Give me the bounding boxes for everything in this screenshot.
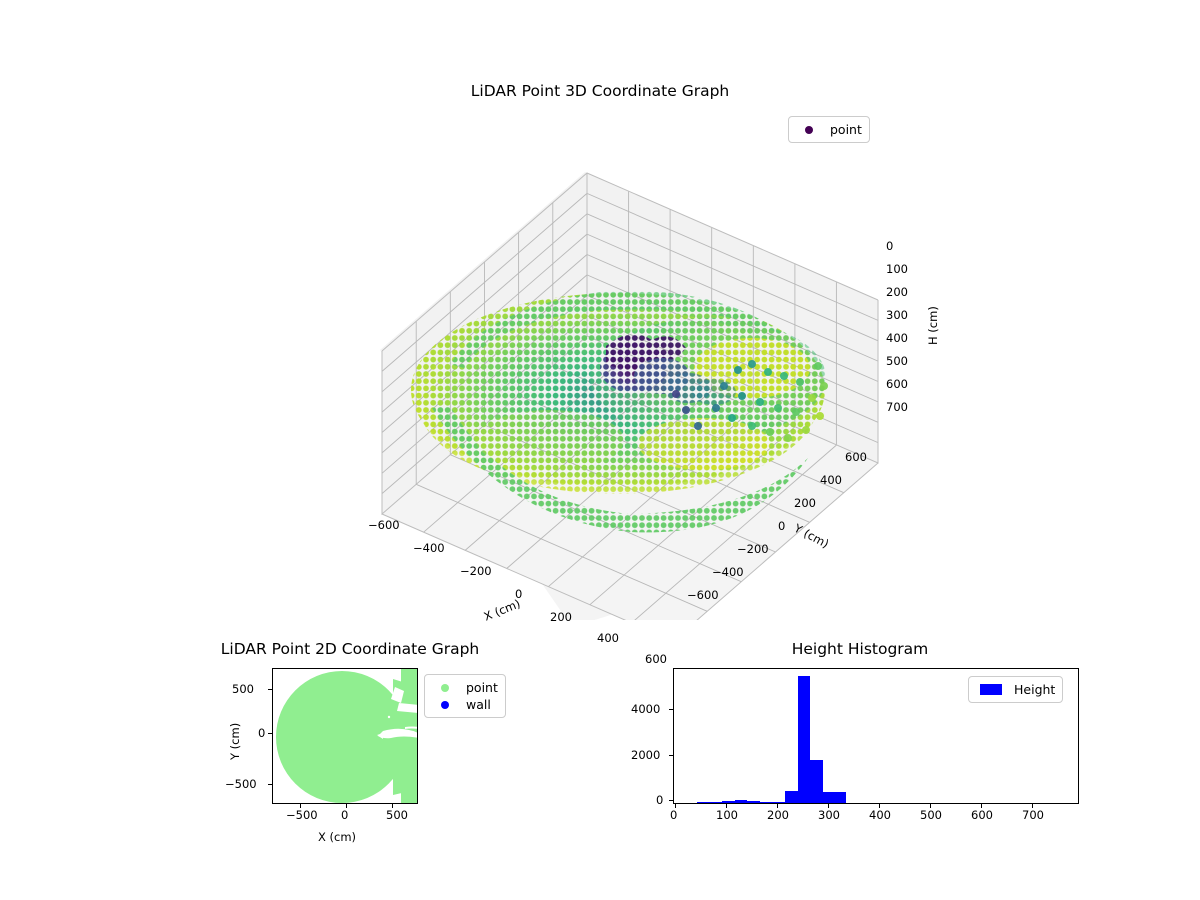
hist-ytickmark-2 — [669, 709, 673, 710]
hist-ytick-0: 0 — [656, 793, 663, 807]
legend-item-point: point — [432, 679, 498, 696]
plot3d-legend: point — [788, 116, 870, 143]
legend-label: Height — [1006, 682, 1055, 697]
plot3d-canvas — [300, 140, 940, 620]
plot2d-ytickmark-2 — [268, 784, 272, 785]
figure-canvas: LiDAR Point 3D Coordinate Graph point — [0, 0, 1200, 900]
histogram-title: Height Histogram — [640, 640, 1080, 658]
histogram-bar — [836, 792, 846, 803]
plot3d-ztick-0: 0 — [886, 239, 893, 253]
plot3d-ytick-0: −600 — [687, 588, 719, 602]
hist-xtick-0: 0 — [670, 808, 677, 822]
plot3d-ytick-4: 200 — [794, 496, 816, 510]
plot3d-ytick-1: −400 — [712, 565, 744, 579]
histogram-bar — [823, 792, 836, 803]
plot3d-xtick-5: 400 — [597, 631, 619, 645]
legend-item-wall: wall — [432, 696, 498, 713]
histogram-bar — [735, 800, 748, 803]
height-patch-icon — [976, 684, 1006, 695]
plot3d-xtick-4: 200 — [550, 610, 572, 624]
hist-xtick-100: 100 — [716, 808, 738, 822]
hist-xtickmark-7 — [1032, 804, 1033, 808]
plot2d-ytickmark-1 — [268, 733, 272, 734]
plot3d-ytick-5: 400 — [820, 473, 842, 487]
plot3d-axes[interactable]: 0 100 200 300 400 500 600 700 H (cm) −60… — [300, 140, 940, 620]
hist-ytick-4000: 4000 — [631, 702, 660, 716]
plot2d-ytickmark-0 — [268, 689, 272, 690]
legend-item-point: point — [796, 121, 862, 138]
plot3d-title: LiDAR Point 3D Coordinate Graph — [0, 82, 1200, 100]
plot3d-ytick-2: −200 — [737, 542, 769, 556]
legend-label: point — [458, 680, 498, 695]
plot3d-ztick-7: 700 — [886, 400, 908, 414]
plot2d-xtickmark-0 — [300, 804, 301, 808]
plot3d-ztick-5: 500 — [886, 354, 908, 368]
plot2d-xtickmark-2 — [392, 804, 393, 808]
plot2d-ytick-500: 500 — [232, 682, 254, 696]
hist-xtick-600: 600 — [971, 808, 993, 822]
plot3d-zaxis-label: H (cm) — [926, 306, 940, 345]
plot2d-yaxis-label: Y (cm) — [228, 723, 242, 760]
hist-xtickmark-2 — [777, 804, 778, 808]
histogram-bar — [810, 760, 823, 803]
point-marker-icon — [432, 684, 458, 692]
legend-label: wall — [458, 697, 491, 712]
plot3d-ytick-3: 0 — [778, 519, 785, 533]
plot3d-xtick-0: −600 — [368, 518, 400, 532]
plot2d-xtickmark-1 — [346, 804, 347, 808]
hist-ytick-2000: 2000 — [631, 748, 660, 762]
hist-xtickmark-1 — [726, 804, 727, 808]
plot2d-ytick-minus500: −500 — [225, 777, 257, 791]
plot2d-xtick-500: 500 — [386, 808, 408, 822]
wall-marker-icon — [432, 701, 458, 709]
hist-xtickmark-5 — [930, 804, 931, 808]
hist-ytickmark-0 — [669, 800, 673, 801]
hist-xtick-700: 700 — [1022, 808, 1044, 822]
plot2d-xtick-minus500: −500 — [286, 808, 318, 822]
hist-xtickmark-4 — [879, 804, 880, 808]
histogram-bar — [798, 676, 811, 803]
plot3d-ztick-6: 600 — [886, 377, 908, 391]
legend-item-height: Height — [976, 681, 1055, 698]
plot2d-xtick-0: 0 — [341, 808, 348, 822]
histogram-bar — [697, 802, 710, 803]
plot3d-ztick-4: 400 — [886, 331, 908, 345]
hist-xtickmark-3 — [828, 804, 829, 808]
histogram-bar — [772, 802, 785, 803]
hist-ytickmark-1 — [669, 755, 673, 756]
hist-xtick-300: 300 — [818, 808, 840, 822]
plot3d-ztick-3: 300 — [886, 308, 908, 322]
hist-xtickmark-0 — [675, 804, 676, 808]
plot2d-ytick-0: 0 — [258, 726, 265, 740]
point-marker-icon — [796, 126, 822, 134]
histogram-bar — [722, 801, 735, 803]
histogram-bar — [785, 791, 798, 803]
plot3d-ytick-6: 600 — [845, 450, 867, 464]
histogram-legend: Height — [968, 676, 1063, 703]
hist-xtick-400: 400 — [869, 808, 891, 822]
hist-xtickmark-6 — [981, 804, 982, 808]
plot2d-xaxis-label: X (cm) — [318, 830, 356, 844]
plot2d-canvas — [273, 669, 418, 804]
plot2d-legend: point wall — [424, 674, 506, 718]
plot2d-axes[interactable] — [272, 668, 418, 804]
histogram-bar — [709, 802, 722, 803]
legend-label: point — [822, 122, 862, 137]
plot3d-xtick-1: −400 — [413, 541, 445, 555]
plot3d-ztick-2: 200 — [886, 285, 908, 299]
plot3d-ztick-1: 100 — [886, 262, 908, 276]
hist-xtick-200: 200 — [767, 808, 789, 822]
point-cloud-disc — [276, 669, 418, 804]
hist-xtick-500: 500 — [920, 808, 942, 822]
plot3d-xtick-2: −200 — [460, 564, 492, 578]
histogram-bar — [760, 802, 773, 803]
plot2d-title: LiDAR Point 2D Coordinate Graph — [150, 640, 550, 658]
histogram-bar — [747, 801, 760, 803]
